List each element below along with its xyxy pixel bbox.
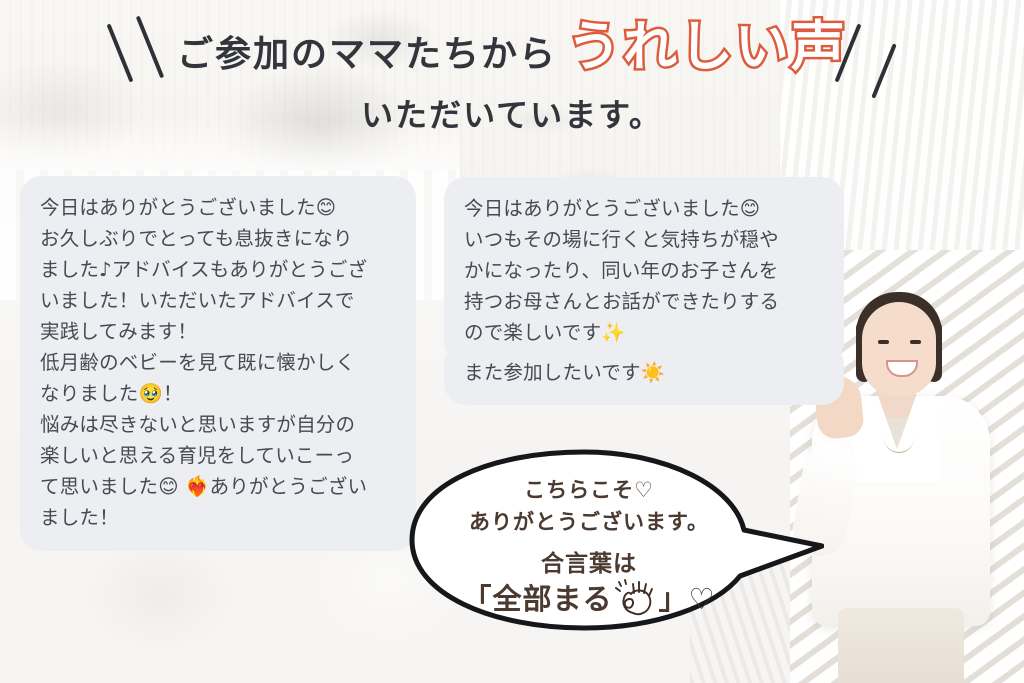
balloon-line-2: ありがとうございます。 [414, 506, 764, 536]
promo-banner: ご参加のママたちから うれしい声 いただいています。 今日はありがとうございまし… [0, 0, 1024, 683]
balloon-keyword-prefix: 「全部まる [462, 576, 612, 618]
balloon-line-4: 「全部まる [404, 576, 774, 618]
woman-face [862, 302, 936, 396]
testimonial-right-second: また参加したいです☀️ [444, 342, 844, 405]
testimonial-right-first: 今日はありがとうございました😊 いつもその場に行くと気持ちが穏や かになったり、… [444, 177, 844, 364]
woman-eye-right [910, 340, 921, 344]
woman-eye-left [878, 340, 889, 344]
balloon-line-3: 合言葉は [414, 544, 764, 578]
reply-speech-balloon: こちらこそ♡ ありがとうございます。 合言葉は 「全部まる [404, 448, 824, 634]
balloon-keyword-suffix: 」♡ [659, 576, 716, 618]
balloon-line-1: こちらこそ♡ [414, 474, 764, 504]
ok-hand-icon [615, 579, 657, 619]
woman-pants [838, 608, 964, 683]
testimonial-left: 今日はありがとうございました😊 お久しぶりでとっても息抜きになり ました♪アドバ… [20, 176, 416, 551]
